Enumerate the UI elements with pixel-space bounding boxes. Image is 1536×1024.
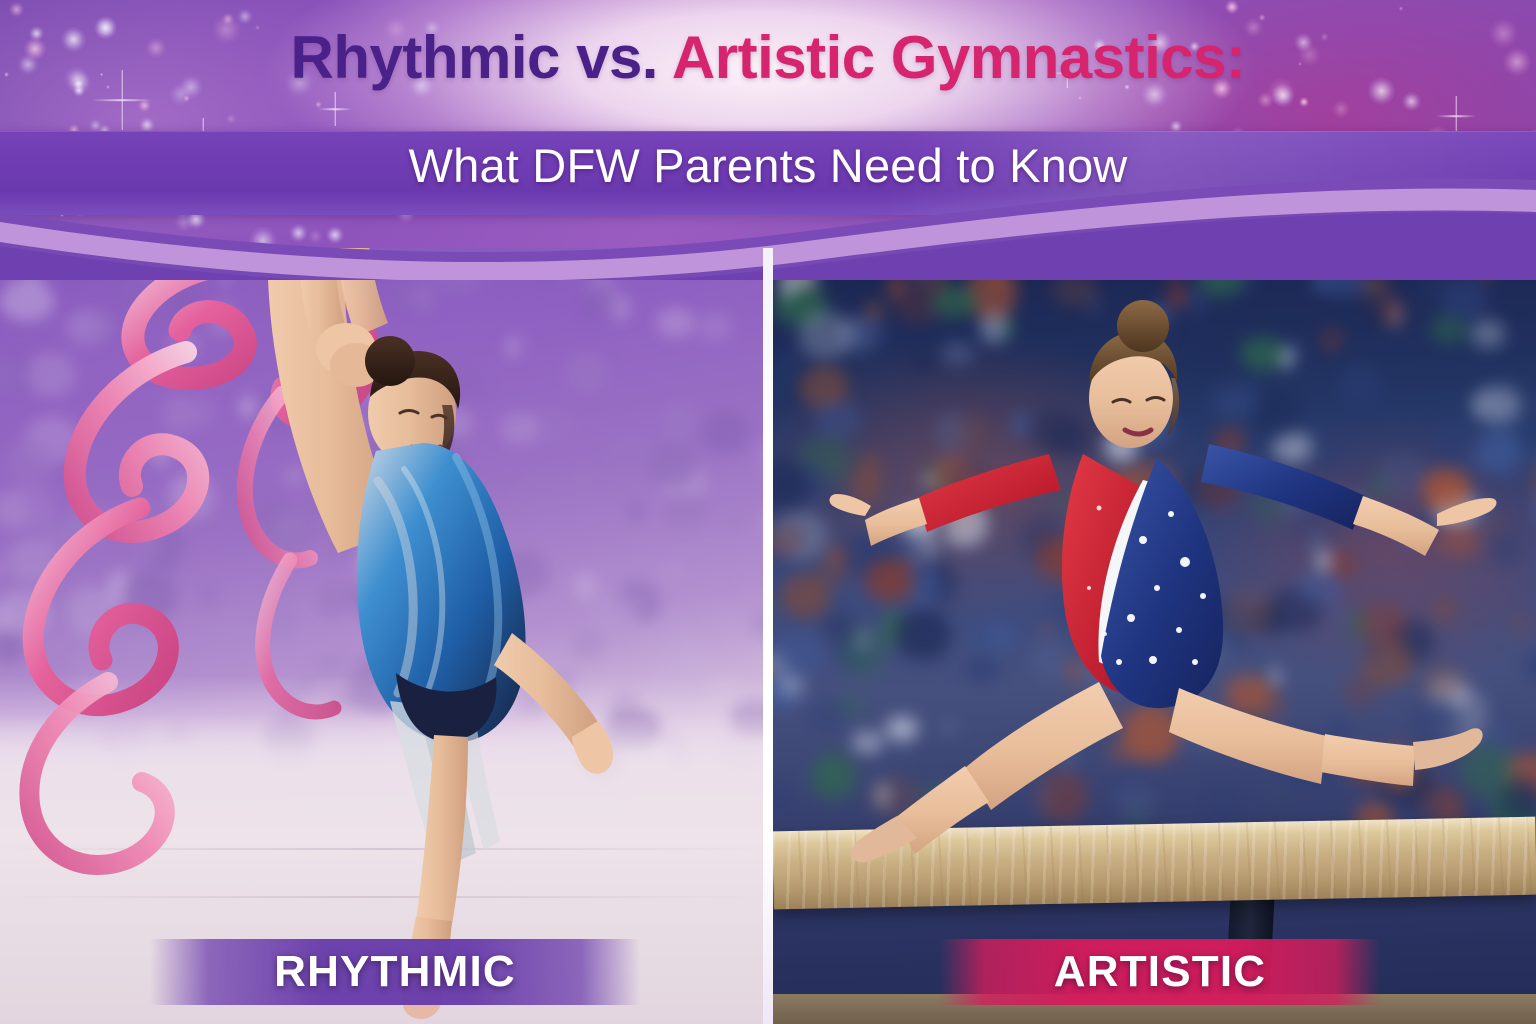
crowd-blur-dot xyxy=(707,671,741,705)
rhythmic-gymnast-figure xyxy=(60,248,620,1023)
crowd-blur-dot xyxy=(650,620,691,655)
sparkle-dot xyxy=(1399,6,1403,10)
page-title: Rhythmic vs. Artistic Gymnastics: xyxy=(0,28,1536,88)
crowd-blur-dot xyxy=(698,312,732,341)
sparkle-dot xyxy=(326,226,344,244)
sparkle-dot xyxy=(183,95,190,102)
label-band-rhythmic: RHYTHMIC xyxy=(150,939,640,1005)
sparkle-dot xyxy=(174,212,194,232)
sparkle-dot xyxy=(222,13,234,25)
crowd-blur-dot xyxy=(779,268,798,299)
sparkle-dot xyxy=(1336,239,1344,247)
sparkle-dot xyxy=(1402,92,1421,111)
crowd-blur-dot xyxy=(664,493,708,528)
label-artistic: ARTISTIC xyxy=(1054,947,1266,997)
sparkle-dot xyxy=(1332,100,1350,118)
label-rhythmic: RHYTHMIC xyxy=(274,947,516,997)
crowd-blur-dot xyxy=(779,355,800,374)
sparkle-dot xyxy=(308,229,324,245)
sparkle-dot xyxy=(138,99,151,112)
sparkle-dot xyxy=(1424,231,1436,243)
crowd-blur-dot xyxy=(659,561,684,582)
panel-divider xyxy=(763,248,773,1024)
panel-rhythmic[interactable]: RHYTHMIC xyxy=(0,248,763,1024)
sparkle-dot xyxy=(58,226,71,239)
sparkle-dot xyxy=(1200,219,1218,237)
sparkle-dot xyxy=(9,2,24,17)
poster-canvas: Rhythmic vs. Artistic Gymnastics: What D… xyxy=(0,0,1536,1024)
sparkle-dot xyxy=(237,9,253,25)
four-point-star-icon xyxy=(318,92,352,126)
crowd-blur-dot xyxy=(773,599,775,614)
crowd-blur-dot xyxy=(649,445,697,487)
title-part-rhythmic: Rhythmic vs. xyxy=(291,24,672,91)
four-point-star-icon xyxy=(1436,96,1476,136)
artistic-gymnast-figure xyxy=(813,258,1533,958)
sparkle-dot xyxy=(89,119,102,132)
crowd-blur-dot xyxy=(657,308,694,337)
crowd-blur-dot xyxy=(627,501,644,520)
sparkle-dot xyxy=(1299,97,1310,108)
page-subtitle: What DFW Parents Need to Know xyxy=(0,138,1536,193)
crowd-blur-dot xyxy=(741,577,756,594)
sparkle-dot xyxy=(1225,0,1239,14)
title-part-artistic: Artistic Gymnastics: xyxy=(672,24,1246,91)
sparkle-dot xyxy=(1490,228,1499,237)
sparkle-dot xyxy=(1257,92,1273,108)
title-block: Rhythmic vs. Artistic Gymnastics: xyxy=(0,28,1536,88)
label-band-artistic: ARTISTIC xyxy=(940,939,1380,1005)
crowd-blur-dot xyxy=(690,429,712,446)
sparkle-dot xyxy=(1056,212,1081,237)
sparkle-dot xyxy=(226,114,237,125)
sparkle-dot xyxy=(1258,14,1265,21)
crowd-blur-dot xyxy=(718,501,748,535)
sparkle-dot xyxy=(1405,216,1429,240)
panel-artistic[interactable]: ARTISTIC xyxy=(773,248,1536,1024)
sparkle-dot xyxy=(1290,219,1318,247)
sparkle-dot xyxy=(1078,96,1082,100)
crowd-blur-dot xyxy=(773,784,788,812)
crowd-blur-dot xyxy=(777,674,804,696)
sparkle-dot xyxy=(315,101,322,108)
crowd-blur-dot xyxy=(750,610,763,637)
sparkle-dot xyxy=(289,224,308,243)
